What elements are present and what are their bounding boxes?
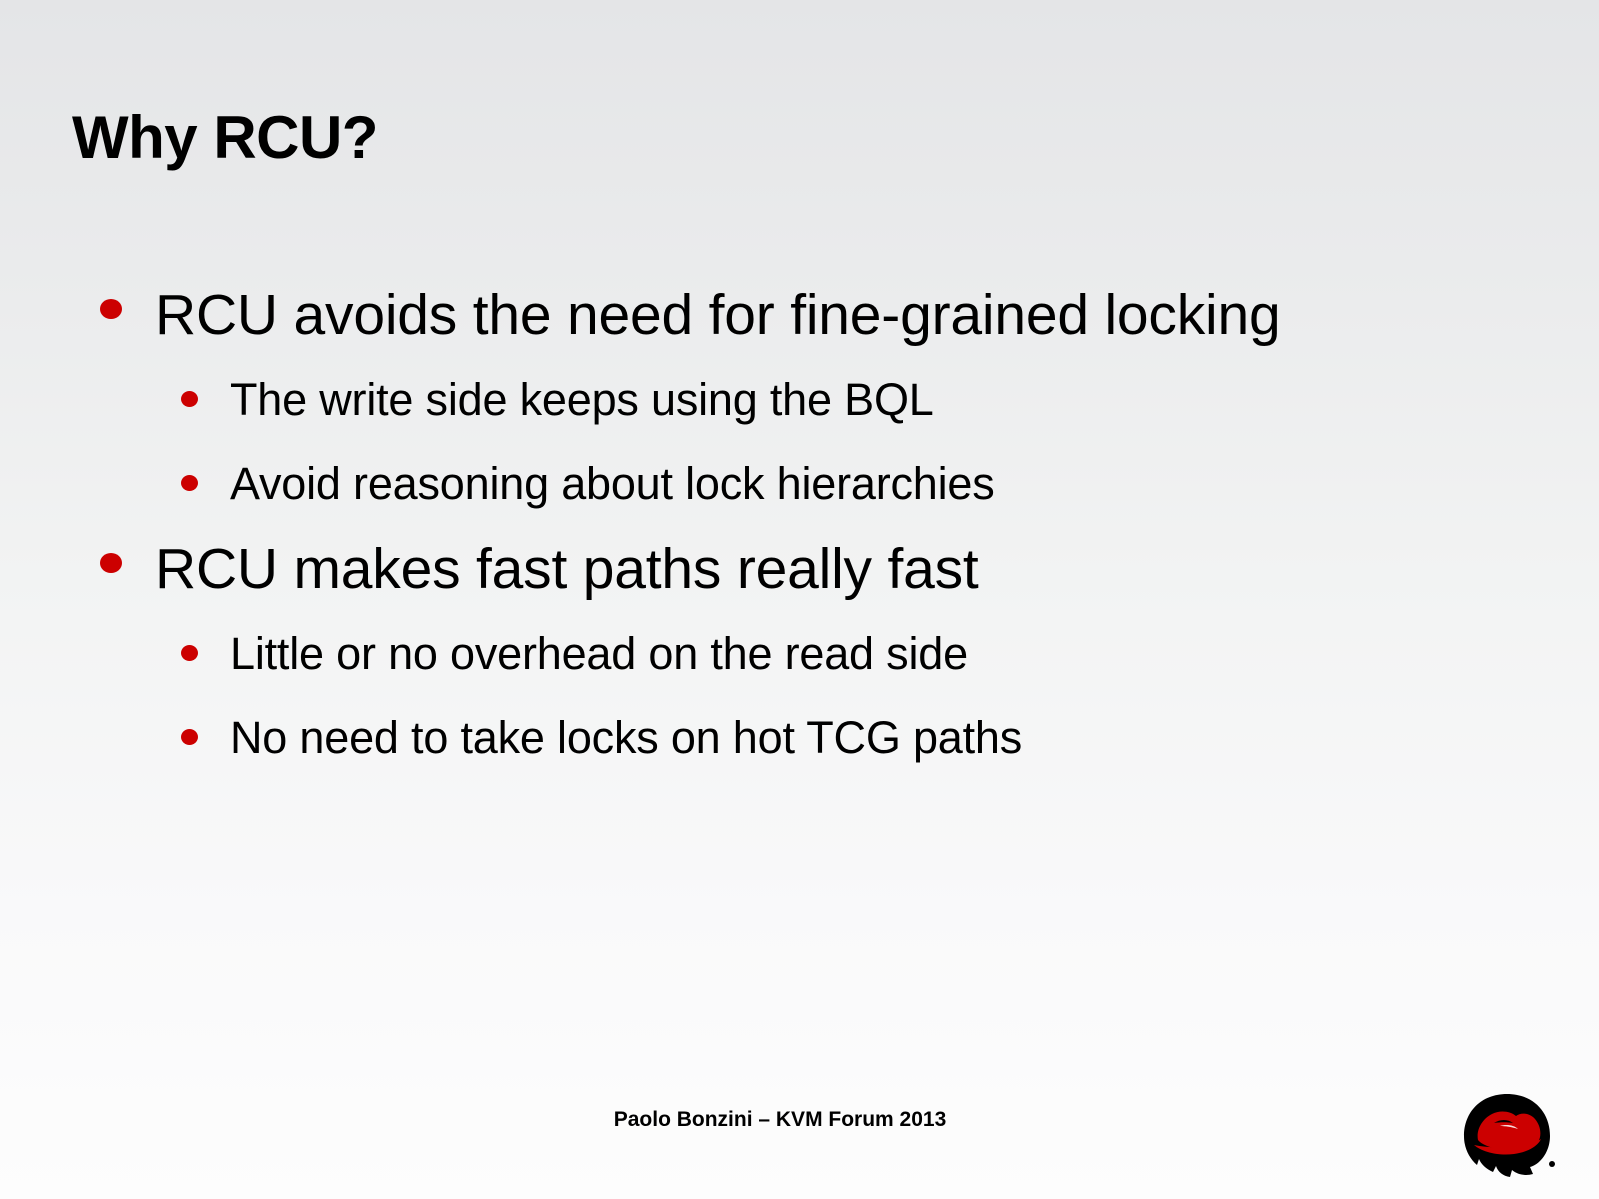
bullet-marker-icon bbox=[100, 553, 122, 573]
bullet-marker-icon bbox=[181, 475, 198, 491]
bullet-item-level1: RCU makes fast paths really fast bbox=[0, 526, 1599, 612]
bullet-marker-icon bbox=[181, 645, 198, 661]
red-hat-shadowman-icon bbox=[1448, 1086, 1566, 1186]
bullet-item-level2: Avoid reasoning about lock hierarchies bbox=[0, 442, 1599, 526]
bullet-item-level2: No need to take locks on hot TCG paths bbox=[0, 696, 1599, 780]
bullet-item-label: The write side keeps using the BQL bbox=[230, 358, 934, 442]
bullet-item-level2: The write side keeps using the BQL bbox=[0, 358, 1599, 442]
bullet-marker-icon bbox=[181, 729, 198, 745]
bullet-marker-icon bbox=[181, 391, 198, 407]
bullet-item-label: No need to take locks on hot TCG paths bbox=[230, 696, 1022, 780]
bullet-item-label: Avoid reasoning about lock hierarchies bbox=[230, 442, 995, 526]
bullet-item-label: RCU makes fast paths really fast bbox=[155, 526, 979, 612]
bullet-item-level2: Little or no overhead on the read side bbox=[0, 612, 1599, 696]
page-title: Why RCU? bbox=[72, 106, 378, 169]
slide-footer: Paolo Bonzini – KVM Forum 2013 bbox=[0, 1108, 1560, 1132]
bullet-item-label: Little or no overhead on the read side bbox=[230, 612, 968, 696]
bullet-list: RCU avoids the need for fine-grained loc… bbox=[0, 272, 1599, 780]
bullet-item-level1: RCU avoids the need for fine-grained loc… bbox=[0, 272, 1599, 358]
bullet-item-label: RCU avoids the need for fine-grained loc… bbox=[155, 272, 1281, 358]
presentation-slide: Why RCU? RCU avoids the need for fine-gr… bbox=[0, 0, 1599, 1199]
bullet-marker-icon bbox=[100, 299, 122, 319]
